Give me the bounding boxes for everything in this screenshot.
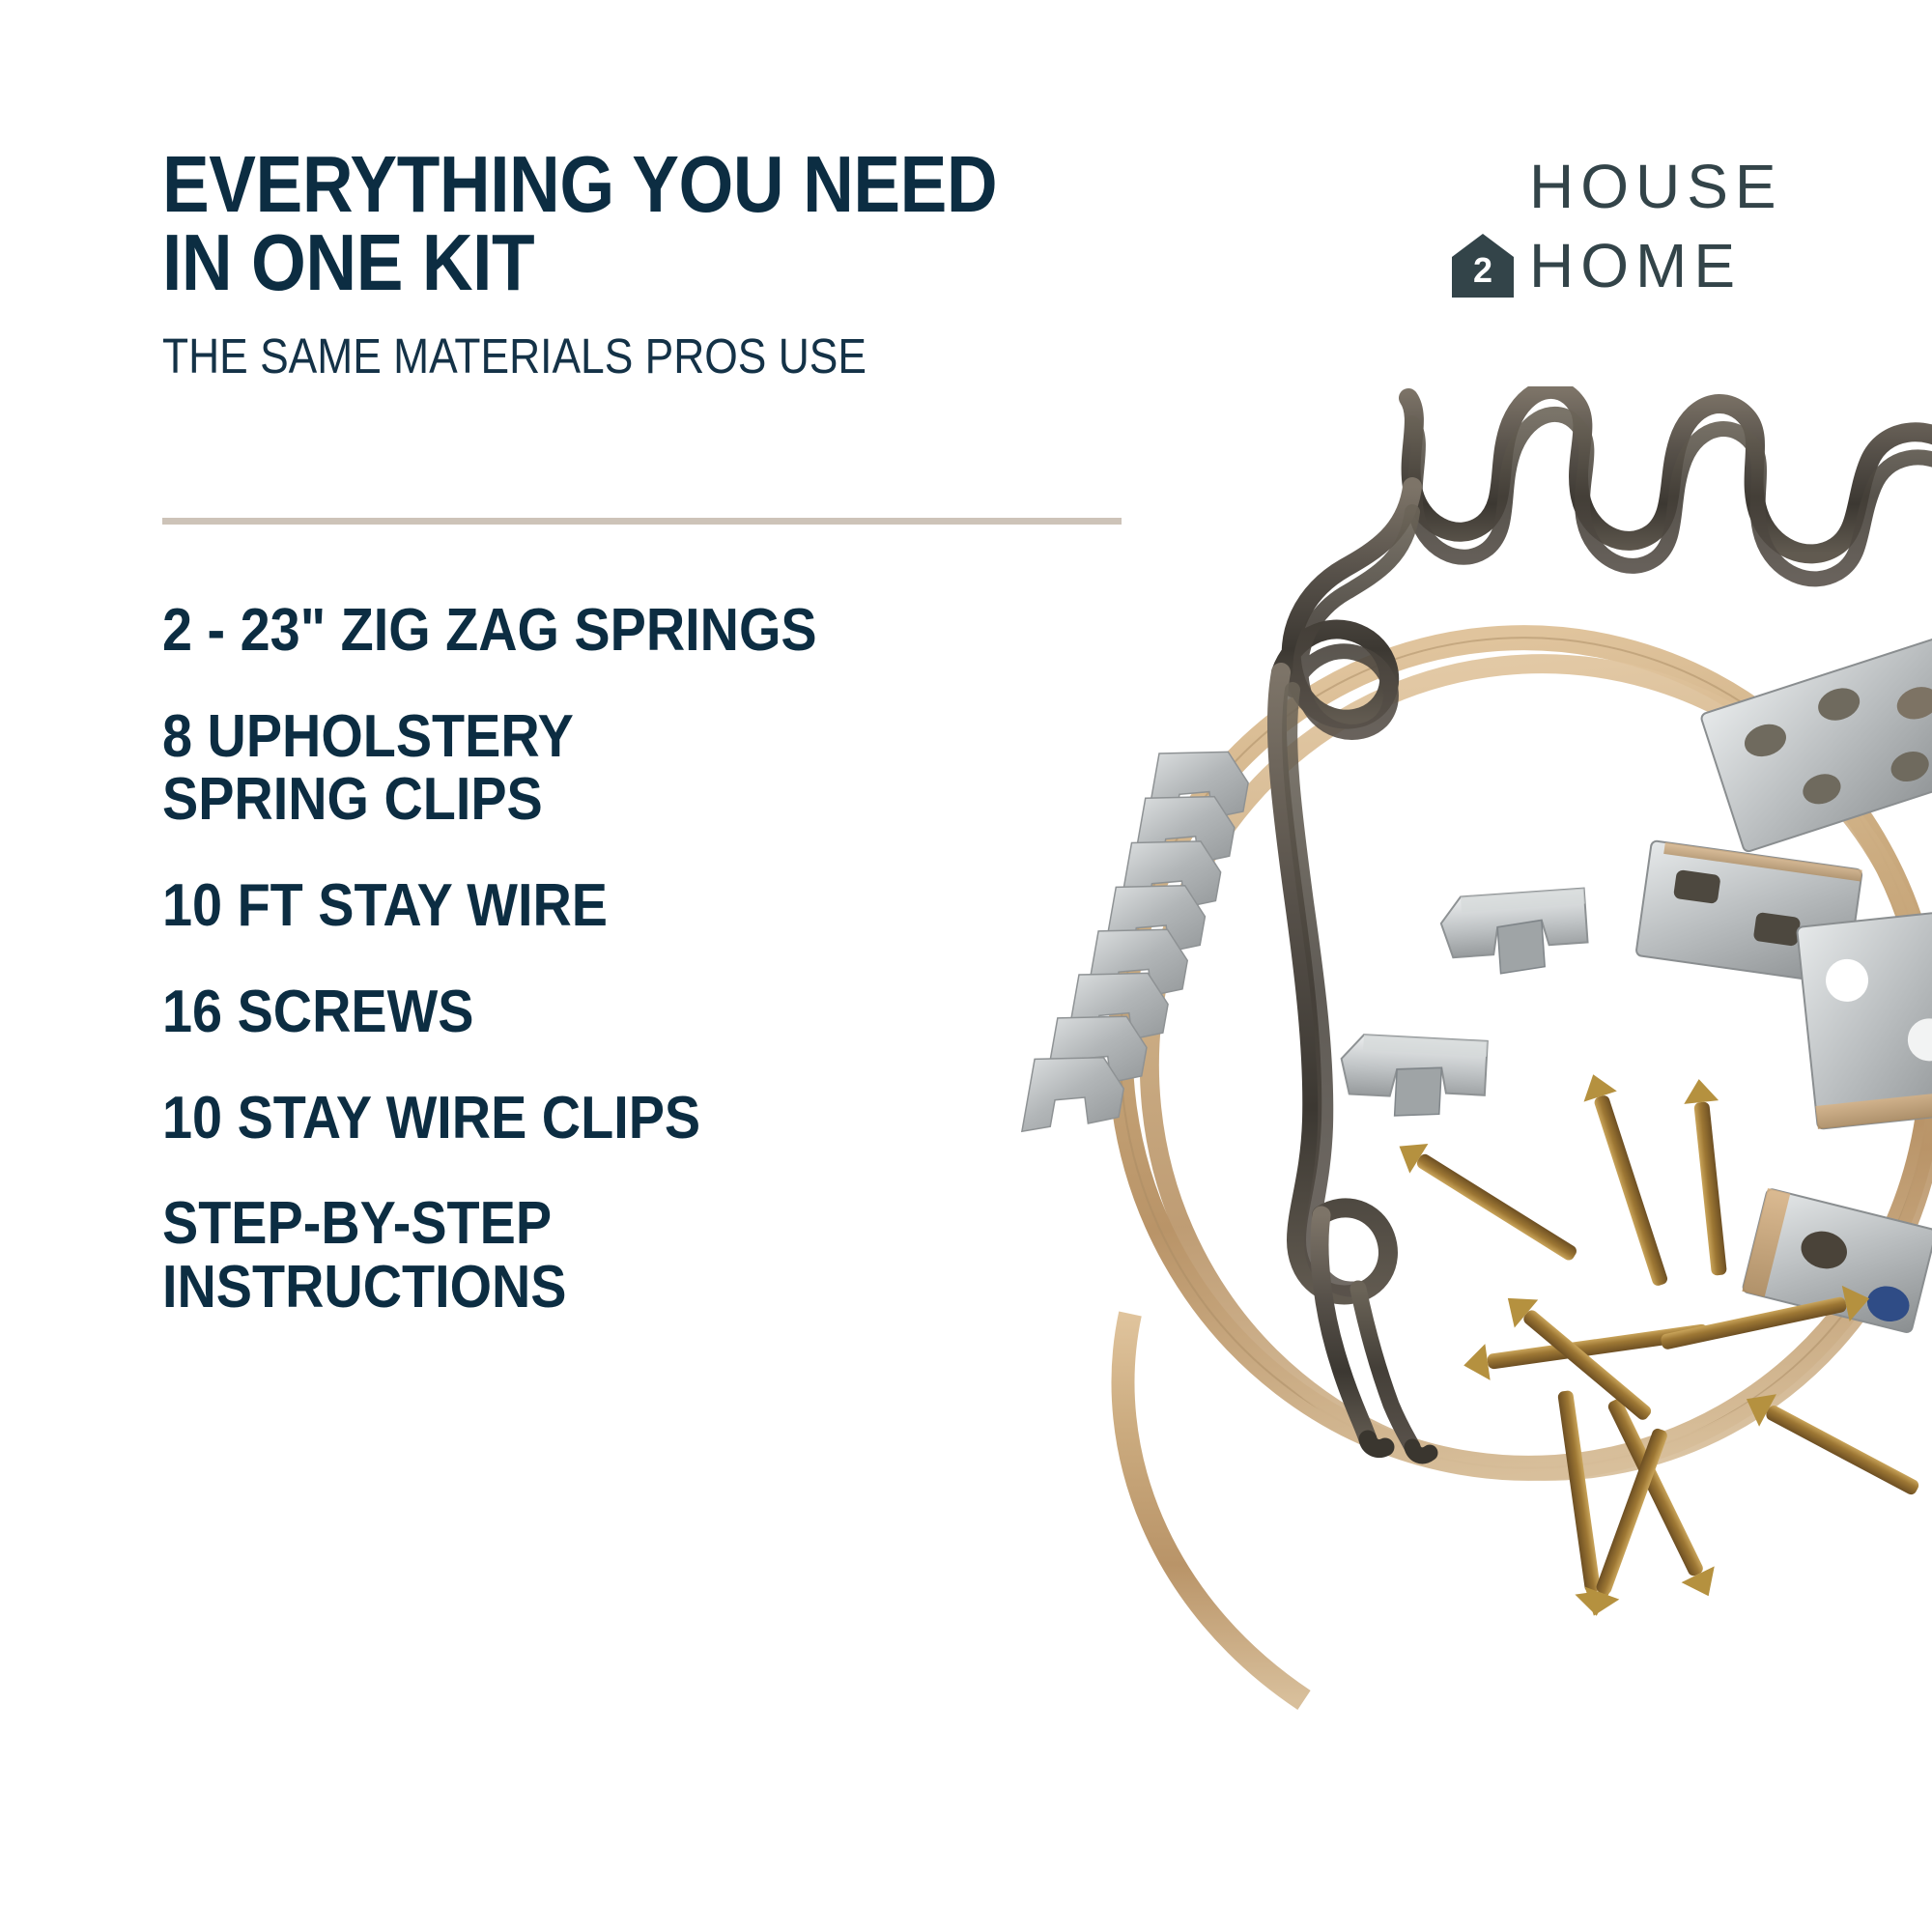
- page-subtitle: THE SAME MATERIALS PROS USE: [162, 329, 1003, 384]
- list-item: 2 - 23" ZIG ZAG SPRINGS: [162, 599, 1040, 663]
- brand-logo: HOUSE 2 HOME: [1452, 147, 1783, 305]
- logo-row-home: 2 HOME: [1452, 226, 1783, 305]
- logo-word-home: HOME: [1529, 235, 1742, 297]
- stay-wire-clip-strip-shape: [1022, 728, 1253, 1160]
- list-item: 10 STAY WIRE CLIPS: [162, 1087, 1040, 1151]
- logo-word-house: HOUSE: [1529, 156, 1783, 217]
- divider-rule: [162, 518, 1122, 525]
- infographic-canvas: EVERYTHING YOU NEED IN ONE KIT THE SAME …: [0, 0, 1932, 1932]
- upholstery-spring-clip-a: [1439, 889, 1589, 978]
- upholstery-spring-clip-b: [1339, 1034, 1488, 1121]
- list-item: STEP-BY-STEP INSTRUCTIONS: [162, 1192, 1040, 1319]
- list-item: 8 UPHOLSTERY SPRING CLIPS: [162, 705, 1040, 832]
- logo-row-house: HOUSE: [1452, 147, 1783, 226]
- wood-screws-shape: [1390, 1069, 1925, 1622]
- perforated-metal-plates-shape: [1635, 638, 1932, 1334]
- page-title: EVERYTHING YOU NEED IN ONE KIT: [162, 145, 1012, 302]
- house-icon-digit: 2: [1452, 253, 1514, 288]
- text-column: EVERYTHING YOU NEED IN ONE KIT THE SAME …: [162, 145, 1128, 384]
- house-icon: 2: [1452, 234, 1514, 298]
- product-photo: [985, 386, 1932, 1758]
- list-item: 10 FT STAY WIRE: [162, 874, 1040, 938]
- list-item: 16 SCREWS: [162, 980, 1040, 1044]
